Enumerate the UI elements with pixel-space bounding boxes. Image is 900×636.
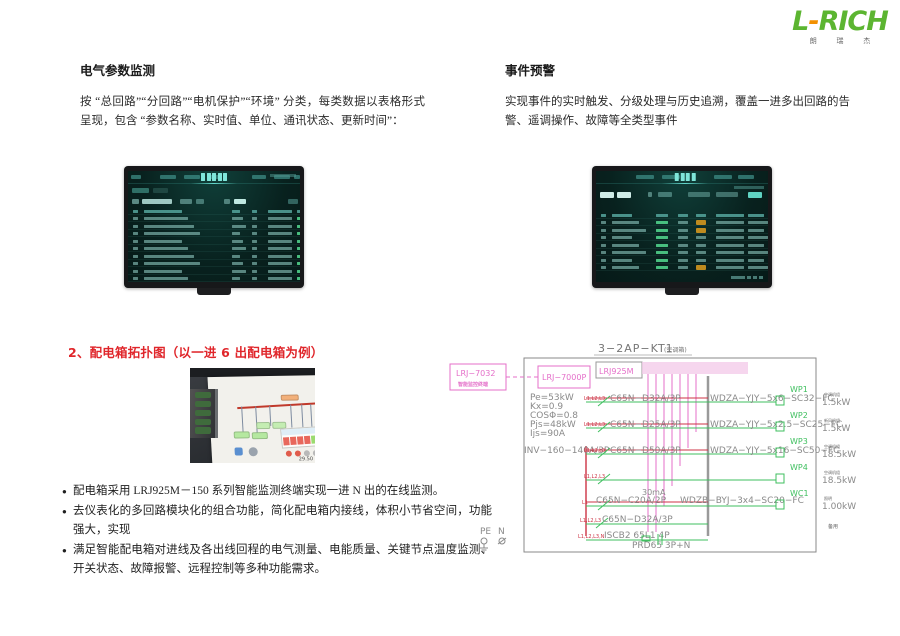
photo-busbar [237,403,315,410]
cell-status [696,214,706,217]
filter-level[interactable] [648,192,652,197]
cell-comm-status [297,210,300,213]
cell-event-desc [748,266,768,269]
filter-label-3 [224,199,230,204]
cell-param-name [144,225,194,228]
cell-param-name [144,240,182,243]
page-root: L-RICH 朗 瑞 杰 电气参数监测 按 “总回路”“分回路”“电机保护”“环… [0,0,900,636]
table-row[interactable] [596,264,768,272]
monitor-event-alarm [592,166,772,288]
cell-comm-status [297,255,300,258]
pager-next[interactable] [759,276,763,279]
cell-event-time [716,244,744,247]
screen-navbar [128,171,300,184]
cell-param-name [144,247,188,250]
wc1-load-name: 照明 [824,496,832,501]
photo-icon-person [234,447,242,455]
bottom1-breaker: C65N−D32A/3P [602,515,673,525]
logo-letter-l: L [792,6,808,37]
photo-panel-header [281,427,315,436]
table-row[interactable] [596,219,768,227]
cell-update-time [268,232,292,235]
table-row[interactable] [128,222,300,230]
wp1-tag: WP1 [790,385,808,394]
screen-filterbar [128,195,300,207]
cell-index [601,259,606,262]
cell-index [601,221,606,224]
cell-param-name [144,232,200,235]
nav-item-r1[interactable] [636,175,654,179]
wp4-load-name: 空调机组 [824,469,840,475]
wp3-tag: WP3 [790,437,808,446]
cell-value [232,232,240,235]
screen-tabbar [128,184,300,195]
cell-update-time [268,217,292,220]
cell-index [601,251,606,254]
pager-prev[interactable] [747,276,751,279]
table-row[interactable] [128,275,300,283]
cell-event-desc [748,251,768,254]
photo-node-orange [281,394,299,400]
cell-update-time [268,240,292,243]
screen-filterbar-right [596,188,768,202]
cell-value [232,247,246,250]
cell-unit [252,210,257,213]
cell-unit [252,255,257,258]
photo-drop-6 [310,403,312,426]
cell-index [133,217,138,220]
cell-event-level [656,236,668,239]
circuit-row-bottom-1: L1,L2,L3 C65N−D32A/3P [580,515,708,528]
cell-event-level [656,251,668,254]
circuit-row-wp2: L1,L2,L3 C65N−D25A/3P WDZA−YJY−5x2.5−SC2… [584,411,851,434]
terminal-box-label: LRJ−7032 [456,369,495,378]
cell-param-name [144,210,182,213]
photo-node-green-1 [234,431,250,438]
cell-event-level [656,229,668,232]
cell-event-level [656,221,668,224]
cell-status [696,259,706,262]
pe-circle [481,538,487,544]
wp3-cable: WDZA−YJY−5x16−SC50−FC [710,446,839,456]
section-electrical-monitoring: 电气参数监测 按 “总回路”“分回路”“电机保护”“环境” 分类，每类数据以表格… [80,62,425,131]
photo-panel-sq-3 [297,436,303,444]
logo-rich: RICH [819,6,888,37]
bullet-item: 配电箱采用 LRJ925M－150 系列智能监测终端实现一进 N 出的在线监测。 [62,482,492,502]
meter-bus-band [642,362,748,374]
wp1-breaker: C65N−D32A/3P [610,394,681,404]
wp4-load: 18.5kW [822,476,856,486]
cell-comm-status [297,262,300,265]
cell-comm-status [297,240,300,243]
filter-date-to[interactable] [716,192,738,197]
spare-circuit-label: 备用 [828,523,838,530]
cell-value [232,210,240,213]
table-row[interactable] [596,249,768,257]
wp1-cable: WDZA−YJY−5x6−SC32−FC [710,394,834,404]
filter-label-2 [180,199,192,204]
nav-item-r4[interactable] [738,175,754,179]
cell-value [232,255,240,258]
wp2-phase: L1,L2,L3 [584,422,605,428]
circuit-row-wp1: L1,L2,L3 C65N−D32A/3P WDZA−YJY−5x6−SC32−… [584,385,851,408]
photo-panel-sq-4 [304,435,310,443]
feature-bullet-list: 配电箱采用 LRJ925M－150 系列智能监测终端实现一进 N 出的在线监测。… [62,482,492,580]
nav-item-home[interactable] [131,175,141,179]
cell-param-name [144,270,182,273]
wc1-load: 1.00kW [822,502,856,512]
cell-comm-status [297,225,300,228]
cell-event-desc [748,244,764,247]
table-row[interactable] [128,230,300,238]
photo-node-green-2 [252,432,268,439]
photo-panel-sq-5 [311,435,315,443]
photo-dot-1 [285,450,291,456]
wp3-breaker: C65N−D50A/3P [610,446,681,456]
panel-title: 3−2AP−KT1 [598,342,674,355]
cell-unit [252,225,257,228]
table-row[interactable] [596,211,768,219]
table-row[interactable] [128,260,300,268]
event-table [596,211,768,271]
filter-label [132,199,139,204]
wc1-phase: L1 [582,500,588,506]
earth-label-n: N [498,527,505,537]
wp2-tag: WP2 [790,411,808,420]
cell-index [133,255,138,258]
wp1-load-name: 空调机组 [824,391,840,397]
cell-index [133,270,138,273]
wp4-terminal [776,474,784,483]
screen-title-glyphs-right [675,173,696,181]
cell-event-time [716,229,744,232]
cell-index [601,229,606,232]
cell-value [232,217,243,220]
cell-index [601,236,606,239]
cell-status [696,244,706,247]
bullet-item: 去仪表化的多回路模块化的组合功能，简化配电箱内接线，体积小节省空间，功能强大，实… [62,502,492,541]
cell-event-desc [748,259,764,262]
pager-page-1[interactable] [753,276,757,279]
photo-module-fin-5 [195,427,212,433]
cell-index [133,262,138,265]
photo-panel-sq-1 [284,437,290,445]
cell-status [696,251,706,254]
nav-item-4[interactable] [252,175,266,179]
cell-comm-status [297,247,300,250]
filter-tab-all[interactable] [600,192,614,198]
cell-event-type [678,244,688,247]
search-button[interactable] [234,199,246,204]
logo-wordmark: L-RICH [790,8,890,36]
wp2-load: 1.5kW [822,424,851,434]
photo-panel-sq-2 [290,436,296,444]
gateway-box-label: LRJ−7000P [542,373,586,382]
cell-event-time [716,236,744,239]
terminal-box-sublabel: 智能监控终端 [458,381,488,388]
cell-value [232,240,243,243]
meter-box-label: LRJ925M [599,367,634,376]
cell-event-level [656,266,668,269]
cell-index [133,240,138,243]
cell-index [133,277,138,280]
cell-unit [252,232,257,235]
filter-select-type[interactable] [196,199,204,204]
cell-event-name [612,259,632,262]
schematic-distribution-topology: 3−2AP−KT1 (空调箱) LRJ−7032 智能监控终端 LRJ−7000… [446,336,886,586]
circuit-row-wp3: L1,L2,L3 C65N−D50A/3P WDZA−YJY−5x16−SC50… [584,437,856,460]
cell-event-type [678,259,688,262]
cell-update-time [268,255,292,258]
wc1-tag: WC1 [790,489,809,498]
cell-status-badge [696,228,706,233]
brand-logo: L-RICH 朗 瑞 杰 [790,8,890,52]
circuit-row-bottom-2: L1,L2,L3,N ISCB2 65L1 4P PRD65 3P+N [578,531,708,551]
cell-event-level [656,244,668,247]
panel-title-note: (空调箱) [664,346,687,354]
cell-param-name [144,255,194,258]
screen-title-underline-right [662,183,708,184]
cell-comm-status [297,217,300,220]
photo-module-fin-1 [195,392,212,398]
bottom2-phase: L1,L2,L3,N [578,534,605,540]
cell-update-time [268,277,292,280]
cell-status-badge [696,265,706,270]
earth-symbols: PE N [480,527,506,552]
cell-value [232,277,240,280]
cell-update-time [268,225,292,228]
screen-navbar-right [596,171,768,184]
cell-event-time [716,251,744,254]
cell-comm-status [297,277,300,280]
monitor-stand-right [665,288,699,295]
table-row[interactable] [128,245,300,253]
earth-label-pe: PE [480,527,491,537]
wp1-load: 1.5kW [822,398,851,408]
screen-title-glyphs [201,173,227,181]
cell-index [601,214,606,217]
circuit-row-wc1: L1 C65N−C20A/2P WDZB−BYJ−3x4−SC20−FC 30m… [582,488,856,512]
bullet-item: 满足智能配电箱对进线及各出线回程的电气测量、电能质量、关键节点温度监测、开关状态… [62,541,492,580]
wp4-tag: WP4 [790,463,808,472]
wp1-phase: L1,L2,L3 [584,396,605,402]
table-row[interactable] [128,252,300,260]
cell-event-type [678,266,688,269]
cell-param-name [144,262,200,265]
cell-event-time [716,266,744,269]
section2-title: 2、配电箱拓扑图（以一进 6 出配电箱为例） [68,342,324,361]
photo-hardware-module [190,389,218,438]
cell-unit [252,217,257,220]
cell-event-name [612,251,646,254]
filter-select-circuit[interactable] [142,199,172,204]
cell-event-level [656,259,668,262]
logo-subtitle: 朗 瑞 杰 [790,37,890,46]
section-title-left: 电气参数监测 [80,62,425,80]
cell-event-type [678,221,688,224]
event-pager[interactable] [731,276,763,279]
table-row[interactable] [596,241,768,249]
cell-unit [252,262,257,265]
tab-active[interactable] [132,188,149,193]
cell-event-desc [748,229,764,232]
wp3-phase: L1,L2,L3 [584,448,605,454]
cell-event-type [678,214,688,217]
bottom1-phase: L1,L2,L3 [580,518,601,524]
table-row[interactable] [128,237,300,245]
query-button[interactable] [748,192,762,198]
photo-module-fin-2 [195,401,212,407]
table-row[interactable] [128,267,300,275]
pager-info [731,276,745,279]
section-body-right: 实现事件的实时触发、分级处理与历史追溯，覆盖一进多出回路的告警、遥调操作、故障等… [505,93,850,131]
cell-event-type [678,251,688,254]
wp3-load-name: 空调机组 [824,443,840,449]
table-row[interactable] [128,215,300,223]
screen-timestamp [270,174,296,177]
cell-event-name [612,244,639,247]
nav-item-r3[interactable] [714,175,732,179]
cell-event-name [612,221,639,224]
section-event-alarm: 事件预警 实现事件的实时触发、分级处理与历史追溯，覆盖一进多出回路的告警、遥调操… [505,62,850,131]
section-title-right: 事件预警 [505,62,850,80]
cell-update-time [268,262,292,265]
tab-inactive[interactable] [153,188,168,193]
photo-module-fin-3 [195,410,212,416]
wp2-breaker: C65N−D25A/3P [610,420,681,430]
nav-item-2[interactable] [184,175,200,179]
cell-event-desc [748,221,768,224]
cell-event-type [678,236,688,239]
wp2-load-name: 新风机组 [824,417,840,423]
cell-value [232,270,246,273]
photo-drop-1 [241,406,243,433]
screen-electrical-params [128,171,300,282]
cell-status-badge [696,220,706,225]
cell-index [133,247,138,250]
cell-unit [252,270,257,273]
cell-event-desc [748,236,768,239]
section-body-left: 按 “总回路”“分回路”“电机保护”“环境” 分类，每类数据以表格形式呈现，包含… [80,93,425,131]
screen-event-alarm [596,171,768,282]
wc1-cable: WDZB−BYJ−3x4−SC20−FC [680,496,804,506]
cell-event-desc [748,214,764,217]
cell-event-name [612,236,632,239]
photo-node-green-3 [256,422,270,429]
bottom2-breaker: ISCB2 65L1 4P [604,531,670,541]
wp4-phase: L1,L2,L3 [584,474,605,480]
nav-item-1[interactable] [160,175,176,179]
cell-unit [252,247,257,250]
cell-index [133,232,138,235]
monitor-stand-left [197,288,231,295]
cell-event-time [716,221,744,224]
cell-event-type [678,229,688,232]
photo-screen-content: 29.50 ℃ [207,375,315,463]
rcd-rating: 30mA [642,488,666,497]
cell-unit [252,277,257,280]
export-button[interactable] [288,199,298,204]
cell-index [133,210,138,213]
table-row[interactable] [596,226,768,234]
cell-unit [252,240,257,243]
photo-drop-4 [290,405,292,427]
cell-update-time [268,270,292,273]
cell-update-time [268,210,292,213]
cell-param-name [144,277,188,280]
cell-value [232,262,243,265]
logo-dash: - [808,6,818,37]
params-table [128,207,300,282]
photo-drop-5 [301,404,303,426]
table-row[interactable] [128,207,300,215]
photo-distribution-box: 29.50 ℃ [190,368,315,463]
photo-module-fin-4 [195,419,212,425]
cell-event-name [612,214,632,217]
cell-index [133,225,138,228]
table-row[interactable] [596,256,768,264]
table-row[interactable] [596,234,768,242]
photo-icon-fan [248,447,258,456]
cell-index [601,244,606,247]
wc1-breaker: C65N−C20A/2P [596,496,667,506]
cell-event-name [612,266,639,269]
cell-update-time [268,247,292,250]
photo-status-panel [280,426,315,448]
cell-event-time [716,259,744,262]
circuit-row-wp4: L1,L2,L3 WP4 空调机组 18.5kW [584,463,856,486]
monitor-electrical-params [124,166,304,288]
cell-index [601,266,606,269]
cell-value [232,225,246,228]
bottom2-sublabel: PRD65 3P+N [632,541,690,551]
filter-level-select[interactable] [658,192,672,197]
param-ijs: Ijs=90A [530,429,566,439]
photo-temperature-label: 29.50 ℃ [299,455,315,461]
cell-event-name [612,229,646,232]
cell-status [696,236,706,239]
filter-tab-unread[interactable] [617,192,631,198]
filter-date-from[interactable] [688,192,710,197]
cell-comm-status [297,232,300,235]
cell-comm-status [297,270,300,273]
cell-event-time [716,214,744,217]
cell-param-name [144,217,188,220]
cell-event-level [656,214,668,217]
wp3-load: 18.5kW [822,450,856,460]
schematic-svg: 3−2AP−KT1 (空调箱) LRJ−7032 智能监控终端 LRJ−7000… [446,336,886,586]
